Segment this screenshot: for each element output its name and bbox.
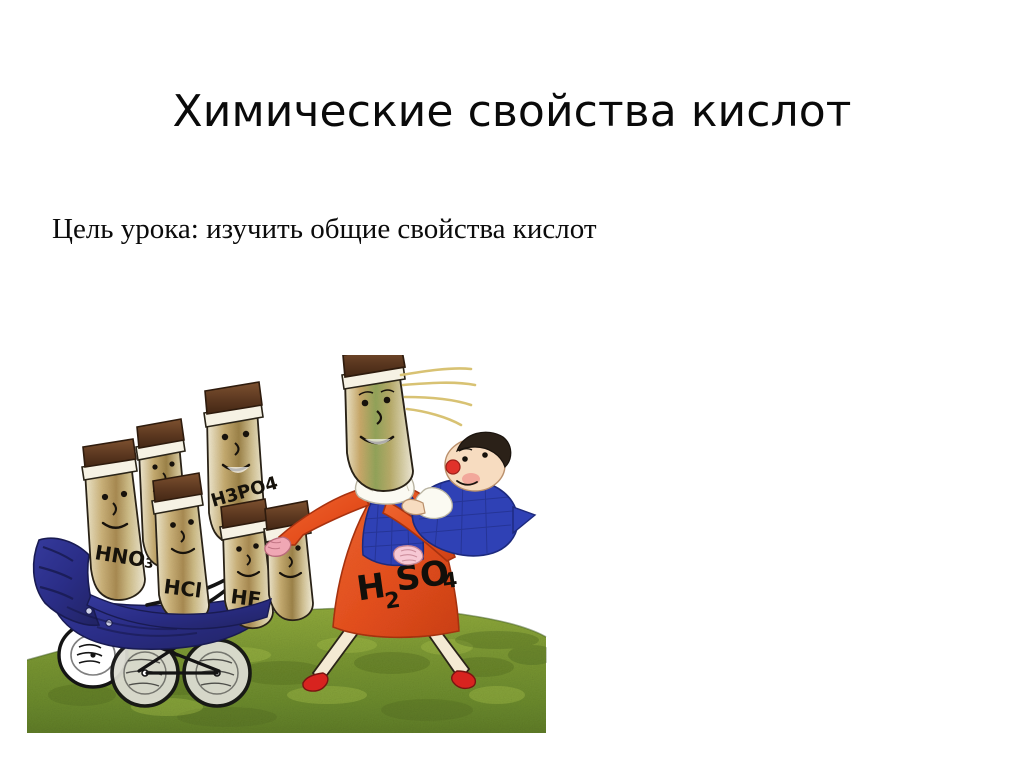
tube-label-hcl: HCl (162, 574, 203, 602)
cartoon-illustration: HNO 3 (27, 355, 547, 735)
baby-nose (446, 460, 460, 474)
lesson-goal-subtitle: Цель урока: изучить общие свойства кисло… (52, 212, 952, 247)
tube-hcl: HCl (152, 473, 209, 622)
label-h: H (354, 566, 388, 610)
presentation-slide: Химические свойства кислот Цель урока: и… (0, 0, 1024, 767)
baby-cheek (462, 473, 480, 485)
carriage-rivet (86, 608, 92, 614)
cartoon-illustration-svg: HNO 3 (27, 355, 547, 735)
page-title: Химические свойства кислот (0, 87, 1024, 138)
